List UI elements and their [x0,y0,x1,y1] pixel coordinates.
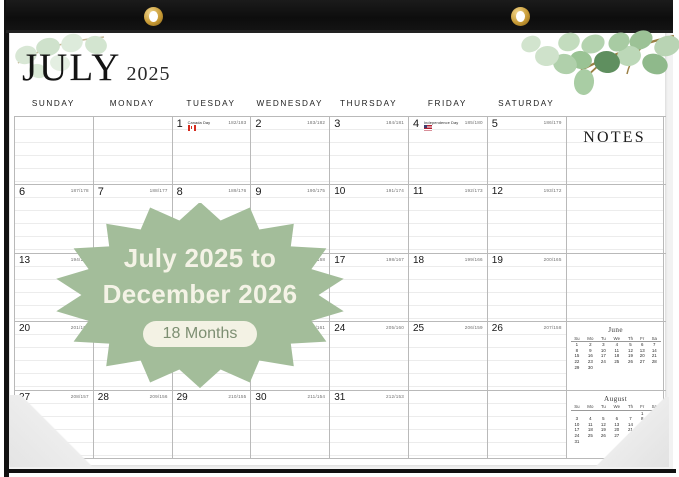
mini-day-29: 29 [571,365,584,371]
day-number: 9 [255,186,261,198]
day-of-year-count: 183/182 [307,120,325,125]
day-of-year-count: 210/155 [228,394,246,399]
day-cell-empty[interactable] [408,391,487,458]
calendar-week-row: 1182/183Canada Day2183/1823184/1814185/1… [14,116,666,184]
holiday-label: Canada Day [188,120,211,125]
notes-ruled-lines [567,254,663,321]
weekday-header-wednesday: WEDNESDAY [250,99,329,116]
mini-calendar-june: JuneSuMoTuWeThFrSa1234567891011121314151… [571,326,661,370]
day-cell-25[interactable]: 25206/159 [408,322,487,389]
day-cell-empty[interactable] [93,117,172,184]
day-number: 18 [413,255,424,266]
day-number: 2 [255,118,261,130]
day-number: 26 [492,323,503,334]
notes-panel-section[interactable]: NOTES [566,117,664,184]
day-cell-18[interactable]: 18199/166 [408,254,487,321]
promo-starburst-badge: July 2025 to December 2026 18 Months [50,203,350,388]
notes-panel-section[interactable] [566,185,664,252]
badge-line-2: December 2026 [103,280,298,309]
cell-ruled-lines [409,391,487,458]
day-number: 11 [413,186,423,197]
day-of-year-count: 211/154 [308,394,326,399]
day-of-year-count: 192/173 [465,188,483,193]
canada-flag-icon [188,125,196,131]
day-cell-empty[interactable] [14,117,93,184]
mini-day-empty [609,365,624,371]
notes-heading: NOTES [567,129,663,147]
weekday-header-saturday: SATURDAY [487,99,566,116]
day-number: 10 [334,186,345,197]
day-number: 30 [255,392,266,403]
day-of-year-count: 209/156 [150,394,168,399]
grommet-hole-right [511,7,530,26]
day-cell-1[interactable]: 1182/183Canada Day [172,117,251,184]
mini-day-empty [624,365,636,371]
day-of-year-count: 186/179 [544,120,562,125]
mini-week-row: 2930 [571,365,661,371]
cell-ruled-lines [409,117,487,184]
day-number: 19 [492,255,503,266]
day-number: 6 [19,186,25,198]
day-cell-29[interactable]: 29210/155 [172,391,251,458]
notes-ruled-lines [567,185,663,252]
day-of-year-count: 187/178 [71,188,89,193]
day-cell-2[interactable]: 2183/182 [250,117,329,184]
binding-strip [6,0,673,33]
badge-duration-pill: 18 Months [143,321,258,347]
day-of-year-count: 199/166 [465,257,483,262]
day-number: 20 [19,323,30,334]
holiday-label: Independence Day [424,120,458,125]
day-of-year-count: 185/180 [465,120,483,125]
day-cell-3[interactable]: 3184/181 [329,117,408,184]
day-cell-empty[interactable] [487,391,566,458]
day-number: 1 [177,118,183,130]
day-of-year-count: 198/167 [386,257,404,262]
day-cell-12[interactable]: 12193/172 [487,185,566,252]
grommet-hole-left [144,7,163,26]
cell-ruled-lines [15,117,93,184]
mini-calendar-month-name: June [571,326,661,334]
day-of-year-count: 206/159 [465,325,483,330]
mini-day-empty [636,365,647,371]
day-cell-4[interactable]: 4185/180Independence Day [408,117,487,184]
weekday-header-thursday: THURSDAY [329,99,408,116]
mini-calendar-table: SuMoTuWeThFrSa12345678910111213141516171… [571,335,661,370]
day-number: 7 [98,186,104,198]
day-of-year-count: 200/165 [544,257,562,262]
weekday-header-spacer [566,99,664,116]
weekday-header-tuesday: TUESDAY [172,99,251,116]
day-cell-30[interactable]: 30211/154 [250,391,329,458]
cell-ruled-lines [94,117,172,184]
day-number: 31 [334,392,345,403]
cell-ruled-lines [173,117,251,184]
day-number: 12 [492,186,503,197]
day-of-year-count: 189/176 [228,188,246,193]
year-label: 2025 [126,63,170,85]
day-number: 5 [492,118,498,130]
cell-ruled-lines [330,117,408,184]
day-of-year-count: 188/177 [150,188,168,193]
weekday-header-row: SUNDAYMONDAYTUESDAYWEDNESDAYTHURSDAYFRID… [14,99,666,116]
day-of-year-count: 182/183 [228,120,246,125]
day-number: 3 [334,118,340,130]
day-cell-26[interactable]: 26207/158 [487,322,566,389]
badge-line-1: July 2025 to [124,244,276,273]
day-of-year-count: 191/174 [386,188,404,193]
day-of-year-count: 205/160 [386,325,404,330]
day-of-year-count: 190/175 [307,188,325,193]
weekday-header-sunday: SUNDAY [14,99,93,116]
page-curl-bottom-left [10,395,120,467]
day-of-year-count: 212/153 [386,394,404,399]
day-of-year-count: 184/181 [386,120,404,125]
wall-calendar-product-photo: JULY2025 SUNDAYMONDAYTUESDAYWEDNESDAYTHU… [0,0,679,477]
day-of-year-count: 207/158 [544,325,562,330]
page-curl-bottom-right [577,397,669,467]
weekday-header-monday: MONDAY [93,99,172,116]
page-edge-bottom [4,469,676,473]
notes-ruled-lines [567,117,663,184]
usa-flag-icon [424,125,432,131]
cell-ruled-lines [488,391,566,458]
day-number: 29 [177,392,188,403]
notes-panel-section[interactable] [566,254,664,321]
month-name: JULY [22,46,121,89]
mini-calendar-section[interactable]: JuneSuMoTuWeThFrSa1234567891011121314151… [566,322,664,389]
cell-ruled-lines [251,117,329,184]
day-number: 4 [413,118,419,130]
day-number: 25 [413,323,424,334]
day-of-year-count: 193/172 [544,188,562,193]
cell-ruled-lines [488,117,566,184]
mini-day-empty [648,365,661,371]
day-cell-19[interactable]: 19200/165 [487,254,566,321]
page-title: JULY2025 [22,48,170,87]
day-number: 8 [177,186,183,198]
day-number: 13 [19,255,30,266]
mini-day-empty [598,365,610,371]
mini-day-30: 30 [583,365,597,371]
page-edge-left [4,0,9,477]
day-cell-31[interactable]: 31212/153 [329,391,408,458]
day-cell-11[interactable]: 11192/173 [408,185,487,252]
day-cell-5[interactable]: 5186/179 [487,117,566,184]
weekday-header-friday: FRIDAY [408,99,487,116]
